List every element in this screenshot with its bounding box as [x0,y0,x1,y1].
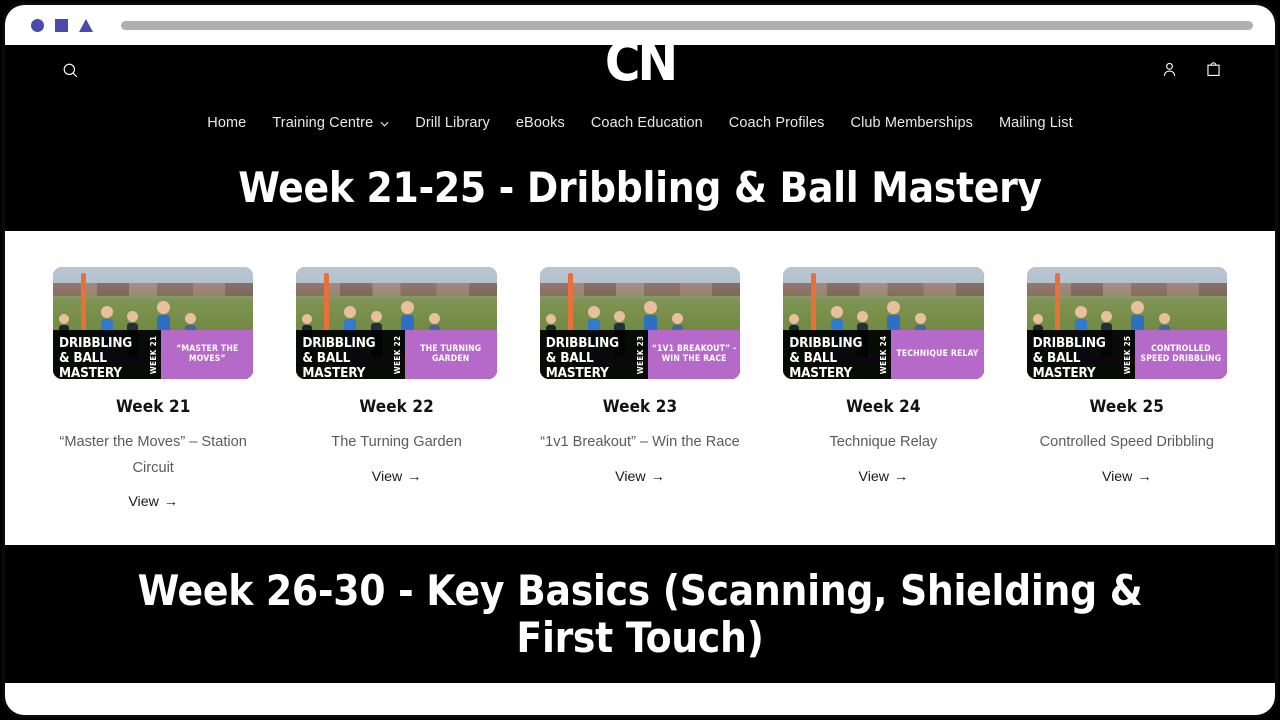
card-thumbnail[interactable]: DRIBBLING & BALL MASTERY WEEK 22 THE TUR… [296,267,496,379]
thumbnail-overlay-bar: DRIBBLING & BALL MASTERY WEEK 22 THE TUR… [296,330,496,379]
nav-item-home[interactable]: Home [194,111,259,135]
square-icon[interactable] [55,19,68,32]
section-heading-2: Week 26-30 - Key Basics (Scanning, Shiel… [5,545,1275,683]
header-top-row: CN [5,45,1275,105]
card-week-23[interactable]: DRIBBLING & BALL MASTERY WEEK 23 “1V1 BR… [540,267,740,511]
thumb-badge: TECHNIQUE RELAY [891,330,983,379]
nav-item-coach-profiles[interactable]: Coach Profiles [716,111,838,135]
view-link[interactable]: View→ [372,469,422,485]
thumb-title: DRIBBLING & BALL MASTERY [1027,330,1120,379]
nav-item-ebooks[interactable]: eBooks [503,111,578,135]
main-navigation: Home Training Centre Drill Library eBook… [5,105,1275,135]
thumb-title: DRIBBLING & BALL MASTERY [540,330,633,379]
thumb-title: DRIBBLING & BALL MASTERY [783,330,876,379]
nav-item-club-memberships[interactable]: Club Memberships [838,111,986,135]
view-link[interactable]: View→ [1102,469,1152,485]
card-thumbnail[interactable]: DRIBBLING & BALL MASTERY WEEK 23 “1V1 BR… [540,267,740,379]
cart-icon [1204,60,1223,79]
card-subtitle: Controlled Speed Dribbling [1027,430,1227,456]
thumb-week-label: WEEK 24 [876,330,891,379]
browser-controls [31,19,93,32]
card-week-25[interactable]: DRIBBLING & BALL MASTERY WEEK 25 CONTROL… [1027,267,1227,511]
card-subtitle: Technique Relay [783,430,983,456]
view-label: View [128,494,159,510]
thumb-week-label: WEEK 25 [1120,330,1135,379]
card-week-24[interactable]: DRIBBLING & BALL MASTERY WEEK 24 TECHNIQ… [783,267,983,511]
page-viewport: CN [5,45,1275,715]
nav-label: eBooks [516,115,565,131]
account-button[interactable] [1155,55,1183,83]
brand-logo[interactable]: CN [5,45,1275,87]
section-heading-1: Week 21-25 - Dribbling & Ball Mastery [5,150,1275,231]
view-label: View [1102,469,1133,485]
card-week-title: Week 24 [783,397,983,417]
nav-label: Coach Profiles [729,115,825,131]
nav-item-training-centre[interactable]: Training Centre [259,111,402,135]
nav-item-mailing-list[interactable]: Mailing List [986,111,1086,135]
card-week-title: Week 23 [540,397,740,417]
thumbnail-overlay-bar: DRIBBLING & BALL MASTERY WEEK 21 “MASTER… [53,330,253,379]
nav-item-coach-education[interactable]: Coach Education [578,111,716,135]
cart-button[interactable] [1199,55,1227,83]
nav-label: Home [207,115,246,131]
card-thumbnail[interactable]: DRIBBLING & BALL MASTERY WEEK 25 CONTROL… [1027,267,1227,379]
card-thumbnail[interactable]: DRIBBLING & BALL MASTERY WEEK 21 “MASTER… [53,267,253,379]
thumb-week-label: WEEK 23 [633,330,648,379]
address-bar[interactable] [121,21,1253,30]
account-icon [1160,60,1179,79]
thumbnail-overlay-bar: DRIBBLING & BALL MASTERY WEEK 24 TECHNIQ… [783,330,983,379]
card-week-title: Week 22 [296,397,496,417]
thumb-badge: “1V1 BREAKOUT” - WIN THE RACE [648,330,740,379]
browser-chrome [5,5,1275,45]
arrow-right-icon: → [1137,469,1151,485]
card-thumbnail[interactable]: DRIBBLING & BALL MASTERY WEEK 24 TECHNIQ… [783,267,983,379]
nav-label: Club Memberships [851,115,973,131]
view-link[interactable]: View→ [859,469,909,485]
view-link[interactable]: View→ [615,469,665,485]
thumb-title: DRIBBLING & BALL MASTERY [296,330,389,379]
card-grid: DRIBBLING & BALL MASTERY WEEK 21 “MASTER… [53,267,1227,511]
nav-label: Drill Library [415,115,490,131]
thumbnail-overlay-bar: DRIBBLING & BALL MASTERY WEEK 23 “1V1 BR… [540,330,740,379]
arrow-right-icon: → [164,494,178,510]
browser-window: CN [2,2,1278,718]
thumb-title: DRIBBLING & BALL MASTERY [53,330,146,379]
thumb-badge: THE TURNING GARDEN [405,330,497,379]
arrow-right-icon: → [894,469,908,485]
header-actions [1155,55,1227,83]
view-label: View [615,469,646,485]
nav-label: Training Centre [272,115,373,131]
view-link[interactable]: View→ [128,494,178,510]
card-subtitle: “1v1 Breakout” – Win the Race [540,430,740,456]
nav-label: Mailing List [999,115,1073,131]
arrow-right-icon: → [407,469,421,485]
thumbnail-overlay-bar: DRIBBLING & BALL MASTERY WEEK 25 CONTROL… [1027,330,1227,379]
thumb-badge: “MASTER THE MOVES” [161,330,253,379]
card-week-title: Week 21 [53,397,253,417]
site-header: CN [5,45,1275,150]
triangle-icon[interactable] [79,19,93,32]
card-subtitle: “Master the Moves” – Station Circuit [53,430,253,481]
view-label: View [859,469,890,485]
view-label: View [372,469,403,485]
thumb-week-label: WEEK 21 [146,330,161,379]
nav-item-drill-library[interactable]: Drill Library [402,111,503,135]
card-subtitle: The Turning Garden [296,430,496,456]
cards-section-1: DRIBBLING & BALL MASTERY WEEK 21 “MASTER… [5,231,1275,545]
nav-label: Coach Education [591,115,703,131]
card-week-title: Week 25 [1027,397,1227,417]
card-week-21[interactable]: DRIBBLING & BALL MASTERY WEEK 21 “MASTER… [53,267,253,511]
card-week-22[interactable]: DRIBBLING & BALL MASTERY WEEK 22 THE TUR… [296,267,496,511]
circle-icon[interactable] [31,19,44,32]
cards-section-2 [5,683,1275,715]
thumb-week-label: WEEK 22 [390,330,405,379]
chevron-down-icon [380,115,389,131]
thumb-badge: CONTROLLED SPEED DRIBBLING [1135,330,1227,379]
arrow-right-icon: → [651,469,665,485]
